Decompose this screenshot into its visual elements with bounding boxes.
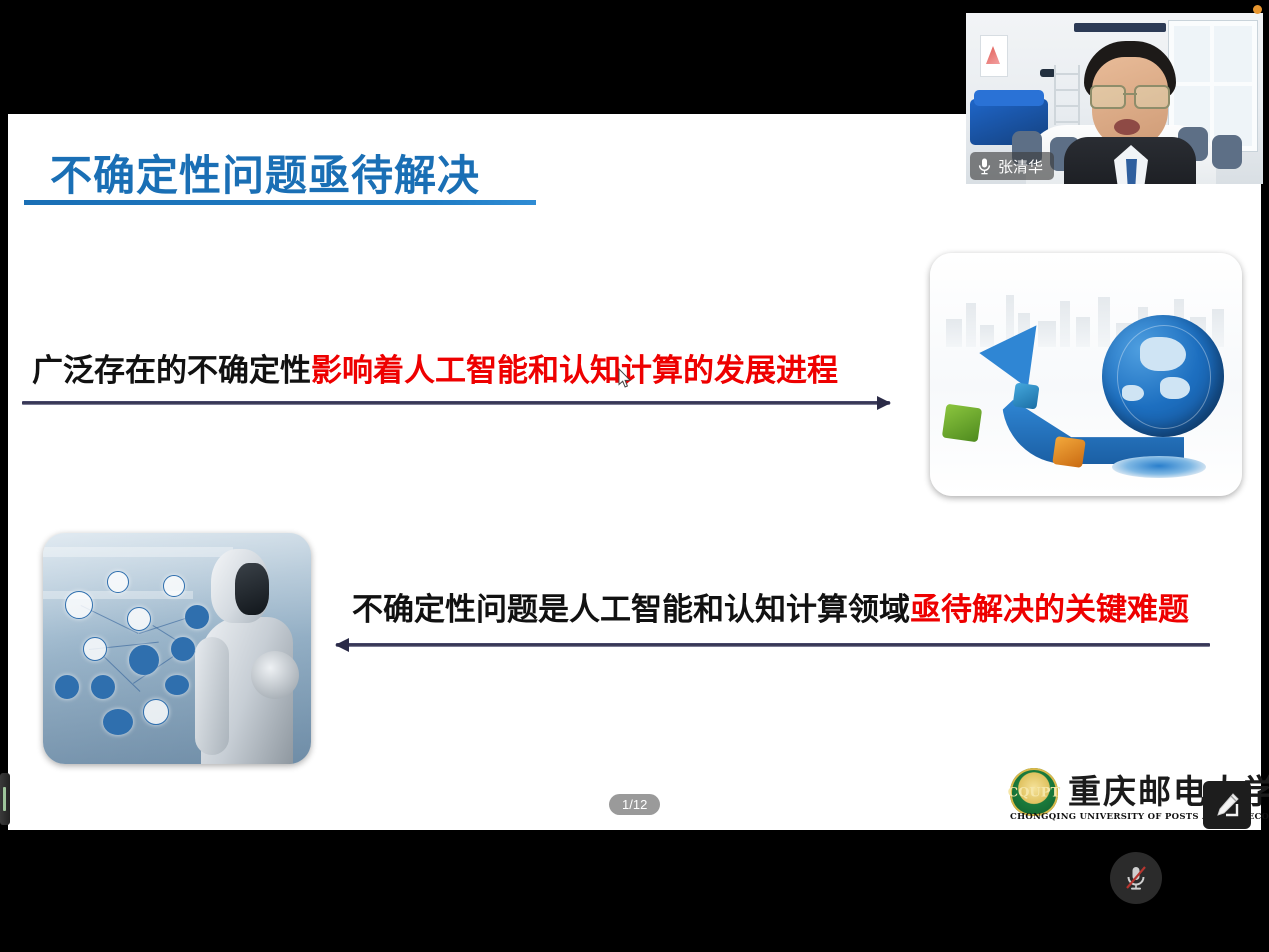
iot-node-icon <box>91 675 115 699</box>
globe-growth-arrow-illustration <box>930 253 1242 496</box>
blue-cube-icon <box>1012 382 1039 409</box>
iot-node-icon <box>127 607 151 631</box>
iot-node-icon <box>107 571 129 593</box>
participant-name: 张清华 <box>998 156 1043 177</box>
wall-art <box>980 35 1008 77</box>
robot-arm <box>195 637 229 755</box>
arrow-left-line-2 <box>336 638 1210 652</box>
iot-node-icon <box>185 605 209 629</box>
annotate-button[interactable] <box>1203 781 1251 829</box>
iot-node-icon <box>65 591 93 619</box>
university-emblem-icon: CQUPT <box>1010 768 1058 816</box>
emblem-text: CQUPT <box>1008 785 1060 800</box>
landmass <box>1140 337 1186 371</box>
statement-line-1: 广泛存在的不确定性影响着人工智能和认知计算的发展进程 <box>32 345 838 390</box>
participant-video-tile[interactable]: 张清华 <box>966 13 1263 184</box>
glasses-icon <box>1090 85 1170 105</box>
iot-node-icon <box>171 637 195 661</box>
globe-icon <box>1102 315 1224 437</box>
statement-line-2: 不确定性问题是人工智能和认知计算领域亟待解决的关键难题 <box>352 584 1189 629</box>
statement-line-1-red: 影响着人工智能和认知计算的发展进程 <box>311 353 838 389</box>
slide-title-underline <box>24 200 536 205</box>
tie <box>1126 159 1137 184</box>
arrow-shaft <box>336 643 1210 647</box>
mouth <box>1114 119 1140 135</box>
ceiling-beam <box>43 547 233 557</box>
pen-annotate-icon <box>1213 791 1241 819</box>
orange-cube-icon <box>1052 436 1086 468</box>
statement-line-2-red: 亟待解决的关键难题 <box>910 592 1189 628</box>
iot-node-icon <box>83 637 107 661</box>
mouse-cursor <box>618 368 632 389</box>
microphone-icon <box>978 158 991 175</box>
participant-person <box>1070 41 1190 184</box>
participant-name-badge: 张清华 <box>970 152 1054 180</box>
iot-node-icon <box>103 709 133 735</box>
landmass <box>1160 377 1190 399</box>
screen-root: 不确定性问题亟待解决 广泛存在的不确定性影响着人工智能和认知计算的发展进程 不确… <box>0 0 1269 952</box>
landmass <box>1122 385 1144 401</box>
iot-node-icon <box>165 675 189 695</box>
robot-shoulder-joint <box>251 651 299 699</box>
status-dot <box>1253 5 1262 14</box>
side-panel-handle[interactable] <box>0 773 10 825</box>
chair <box>1212 135 1242 169</box>
mute-button[interactable] <box>1110 852 1162 904</box>
thinking-robot-iot-illustration <box>43 533 311 764</box>
arrow-shaft <box>22 401 890 405</box>
iot-node-icon <box>129 645 159 675</box>
page-indicator: 1/12 <box>609 794 660 815</box>
arrow-head <box>335 638 349 652</box>
iot-node-icon <box>143 699 169 725</box>
microphone-muted-icon <box>1121 863 1151 893</box>
statement-line-1-black: 广泛存在的不确定性 <box>32 353 311 389</box>
iot-node-icon <box>163 575 185 597</box>
slide-left-edge <box>0 114 8 830</box>
arrow-tip <box>979 308 1060 389</box>
handle-grip <box>3 787 6 811</box>
arrow-head <box>877 396 891 410</box>
globe-base <box>1112 456 1206 478</box>
green-cube-icon <box>942 404 982 443</box>
arrow-right-line-1 <box>22 396 890 410</box>
statement-line-2-black: 不确定性问题是人工智能和认知计算领域 <box>352 592 910 628</box>
robot-face <box>235 563 269 615</box>
iot-node-icon <box>55 675 79 699</box>
ceiling-light <box>1074 23 1166 32</box>
slide-title: 不确定性问题亟待解决 <box>50 142 480 203</box>
